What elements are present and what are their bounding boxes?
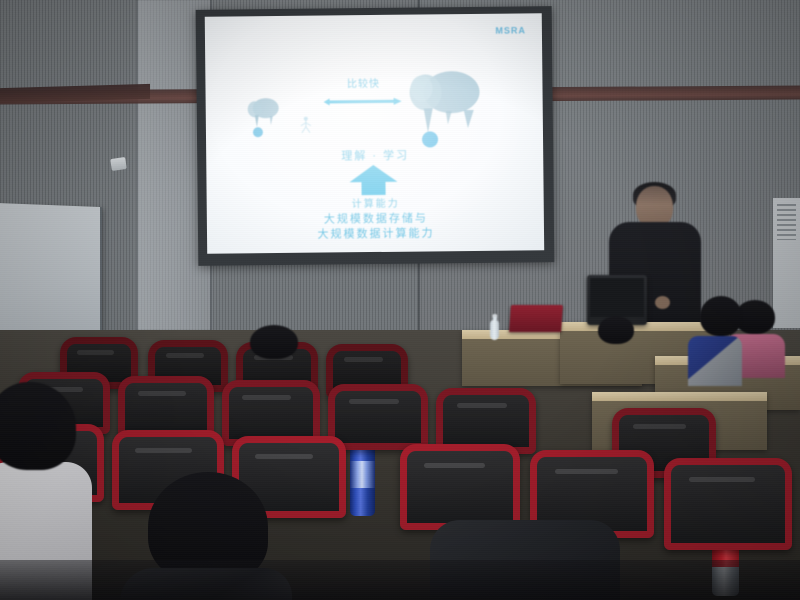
chair-highlight	[138, 391, 186, 396]
slide-line-1: 计算能力	[255, 196, 497, 214]
chair-highlight	[633, 424, 685, 429]
arrow-right-icon	[324, 97, 402, 107]
presenter-hand	[655, 296, 670, 309]
chair-row3-4	[400, 444, 520, 530]
student-hair	[598, 316, 634, 344]
vent-slits	[777, 204, 796, 240]
slide-arrow-label: 比较快	[323, 75, 403, 91]
laptop	[509, 305, 563, 332]
foreground-shadow	[0, 560, 800, 600]
stick-figure-icon	[298, 116, 314, 134]
student-hair	[0, 382, 76, 470]
bottle-body	[490, 320, 499, 340]
slide-bottom-text: 计算能力 大规模数据存储与 大规模数据计算能力	[255, 196, 497, 244]
student-body	[688, 336, 742, 386]
chair-back	[664, 458, 792, 550]
bottle-label	[350, 461, 375, 487]
slide-middle-label: 理解 · 学习	[300, 146, 450, 164]
wall-speaker	[110, 157, 127, 171]
monitor-screen	[590, 278, 644, 317]
elephant-on-ball-large-icon	[405, 62, 494, 149]
chair-highlight	[77, 350, 114, 355]
chair-highlight	[166, 353, 204, 358]
student-right	[700, 296, 742, 386]
presentation-slide: MSRA	[205, 13, 544, 254]
student-far-right	[735, 300, 785, 378]
wall-seam-left	[136, 0, 138, 340]
chair-row3-6	[664, 458, 792, 550]
student-hair	[700, 296, 742, 336]
water-bottle-front	[490, 314, 499, 340]
classroom-scene: MSRA	[0, 0, 800, 600]
chair-highlight	[135, 448, 192, 453]
student-hair	[250, 325, 298, 359]
chair-highlight	[457, 403, 507, 408]
chair-highlight	[689, 477, 755, 482]
student-mid-center	[250, 325, 298, 359]
chair-highlight	[424, 463, 485, 468]
chair-highlight	[349, 399, 399, 404]
chair-highlight	[242, 395, 291, 400]
student-mid-right	[598, 316, 634, 344]
chair-highlight	[344, 357, 383, 362]
chair-highlight	[255, 454, 313, 459]
slide-logo: MSRA	[495, 25, 526, 35]
elephant-on-ball-small-icon	[246, 94, 288, 138]
chair-back	[400, 444, 520, 530]
screen-surface: MSRA	[205, 13, 544, 254]
slide-line-3: 大规模数据计算能力	[255, 226, 497, 244]
chair-highlight	[555, 469, 619, 474]
projector-screen[interactable]: MSRA	[196, 6, 555, 266]
arrow-up-icon	[348, 165, 398, 196]
desk-top	[592, 392, 767, 401]
